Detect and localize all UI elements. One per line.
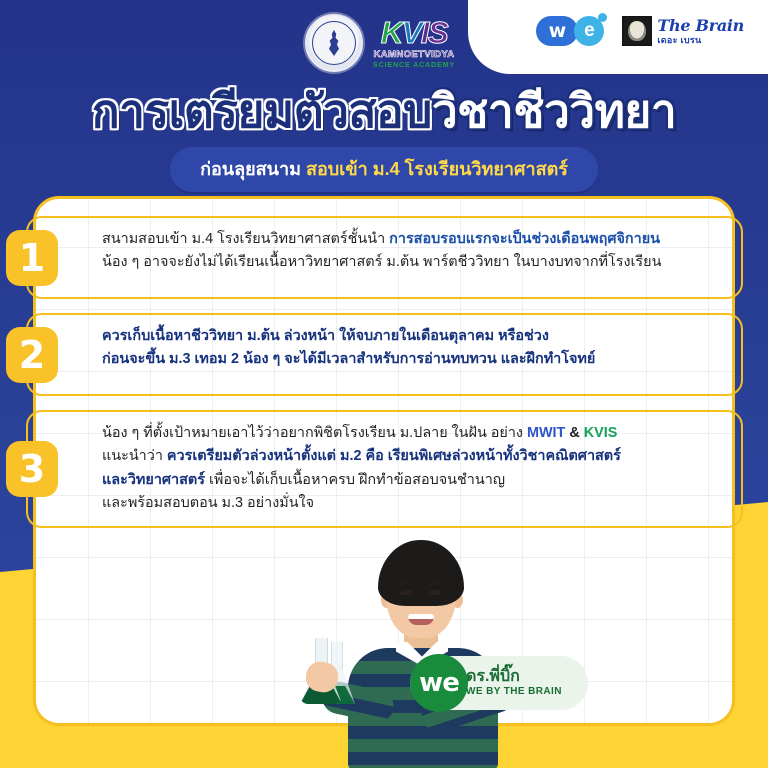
- title-block: การเตรียมตัวสอบวิชาชีววิทยา ก่อนลุยสนาม …: [0, 86, 768, 192]
- we-badge-logo: we: [410, 654, 468, 712]
- we-badge-text: ดร.พี่บิ๊ก WE BY THE BRAIN: [466, 668, 562, 698]
- we-accent-dot: [598, 13, 607, 22]
- header-bar: KVIS KAMNOETVIDYA SCIENCE ACADEMY w e Th…: [0, 0, 768, 78]
- tip-text-2: ควรเก็บเนื้อหาชีววิทยา ม.ต้น ล่วงหน้า ให…: [102, 325, 725, 372]
- presenter-name: ดร.พี่บิ๊ก: [466, 668, 562, 686]
- subtitle-pill: ก่อนลุยสนาม สอบเข้า ม.4 โรงเรียนวิทยาศาส…: [170, 147, 598, 192]
- text-segment: และวิทยาศาสตร์: [102, 472, 205, 488]
- tip-text-3: น้อง ๆ ที่ตั้งเป้าหมายเอาไว้ว่าอยากพิชิต…: [102, 422, 725, 515]
- kvis-logo: KVIS KAMNOETVIDYA SCIENCE ACADEMY: [373, 17, 455, 68]
- kvis-subtitle-line1: KAMNOETVIDYA: [374, 50, 455, 60]
- kvis-letter-v: V: [402, 15, 421, 50]
- tip-line: น้อง ๆ อาจจะยังไม่ได้เรียนเนื้อหาวิทยาศา…: [102, 251, 725, 274]
- tip-number-badge-3: 3: [6, 441, 58, 497]
- tip-number-badge-2: 2: [6, 327, 58, 383]
- we-wordmark: w e: [536, 16, 604, 46]
- tip-card-1: 1สนามสอบเข้า ม.4 โรงเรียนวิทยาศาสตร์ชั้น…: [26, 216, 743, 299]
- text-segment: และพร้อมสอบตอน ม.3 อย่างมั่นใจ: [102, 495, 314, 511]
- presenter-name-badge: we ดร.พี่บิ๊ก WE BY THE BRAIN: [410, 656, 588, 710]
- presenter-eye-left: [400, 590, 412, 595]
- the-brain-logo: The Brain เดอะ เบรน: [622, 16, 744, 46]
- brain-portrait-icon: [622, 16, 652, 46]
- title-part-light: วิชาชีววิทยา: [432, 85, 676, 137]
- partner-logos: w e The Brain เดอะ เบรน: [536, 16, 744, 46]
- text-segment: ควรเตรียมตัวล่วงหน้าตั้งแต่ ม.2 คือ เรีย…: [167, 448, 621, 464]
- text-segment: น้อง ๆ อาจจะยังไม่ได้เรียนเนื้อหาวิทยาศา…: [102, 254, 661, 270]
- tip-number-badge-1: 1: [6, 230, 58, 286]
- presenter-smile: [408, 614, 434, 625]
- brain-subtitle: เดอะ เบรน: [657, 36, 744, 45]
- tip-line: และวิทยาศาสตร์ เพื่อจะได้เก็บเนื้อหาครบ …: [102, 469, 725, 492]
- presenter-eye-right: [429, 590, 441, 595]
- kvis-wordmark: KVIS: [381, 17, 447, 48]
- tip-line: และพร้อมสอบตอน ม.3 อย่างมั่นใจ: [102, 492, 725, 515]
- text-segment: เพื่อจะได้เก็บเนื้อหาครบ ฝึกทำข้อสอบจนชำ…: [205, 472, 505, 488]
- infographic-poster: KVIS KAMNOETVIDYA SCIENCE ACADEMY w e Th…: [0, 0, 768, 768]
- tip-text-1: สนามสอบเข้า ม.4 โรงเรียนวิทยาศาสตร์ชั้นน…: [102, 228, 725, 275]
- subtitle-gold-text: สอบเข้า ม.4 โรงเรียนวิทยาศาสตร์: [306, 159, 568, 179]
- brain-wordmark: The Brain เดอะ เบรน: [657, 18, 744, 45]
- tips-list: 1สนามสอบเข้า ม.4 โรงเรียนวิทยาศาสตร์ชั้น…: [0, 216, 768, 542]
- tip-line: ก่อนจะขึ้น ม.3 เทอม 2 น้อง ๆ จะได้มีเวลา…: [102, 348, 725, 371]
- tip-line: น้อง ๆ ที่ตั้งเป้าหมายเอาไว้ว่าอยากพิชิต…: [102, 422, 725, 445]
- text-segment: KVIS: [584, 425, 618, 441]
- brain-title: The Brain: [657, 18, 744, 34]
- text-segment: ก่อนจะขึ้น ม.3 เทอม 2 น้อง ๆ จะได้มีเวลา…: [102, 351, 595, 367]
- center-logos: KVIS KAMNOETVIDYA SCIENCE ACADEMY: [305, 14, 455, 72]
- presenter-hair: [378, 540, 464, 606]
- crest-shape: [325, 30, 343, 56]
- tip-line: แนะนำว่า ควรเตรียมตัวล่วงหน้าตั้งแต่ ม.2…: [102, 445, 725, 468]
- we-logo: w e: [536, 16, 604, 46]
- tip-line: ควรเก็บเนื้อหาชีววิทยา ม.ต้น ล่วงหน้า ให…: [102, 325, 725, 348]
- text-segment: &: [565, 425, 583, 441]
- title-part-dark: การเตรียมตัวสอบ: [92, 85, 432, 137]
- text-segment: MWIT: [527, 425, 565, 441]
- text-segment: การสอบรอบแรกจะเป็นช่วงเดือนพฤศจิกายน: [389, 231, 660, 247]
- kvis-letter-s: S: [428, 15, 447, 50]
- tip-card-3: 3น้อง ๆ ที่ตั้งเป้าหมายเอาไว้ว่าอยากพิชิ…: [26, 410, 743, 528]
- text-segment: น้อง ๆ ที่ตั้งเป้าหมายเอาไว้ว่าอยากพิชิต…: [102, 425, 527, 441]
- kvis-letter-k: K: [381, 15, 402, 50]
- presenter-brand: WE BY THE BRAIN: [466, 686, 562, 698]
- presenter-illustration: [300, 538, 530, 768]
- text-segment: สนามสอบเข้า ม.4 โรงเรียนวิทยาศาสตร์ชั้นน…: [102, 231, 389, 247]
- text-segment: ควรเก็บเนื้อหาชีววิทยา ม.ต้น ล่วงหน้า ให…: [102, 328, 549, 344]
- page-title: การเตรียมตัวสอบวิชาชีววิทยา: [92, 86, 676, 137]
- tip-card-2: 2ควรเก็บเนื้อหาชีววิทยา ม.ต้น ล่วงหน้า ใ…: [26, 313, 743, 396]
- kvis-subtitle-line2: SCIENCE ACADEMY: [373, 61, 455, 68]
- we-letter-w: w: [536, 16, 578, 46]
- kvis-letter-i: I: [421, 15, 428, 50]
- portrait-face: [628, 21, 646, 41]
- royal-school-seal-icon: [305, 14, 363, 72]
- subtitle-white-text: ก่อนลุยสนาม: [200, 159, 301, 179]
- tip-line: สนามสอบเข้า ม.4 โรงเรียนวิทยาศาสตร์ชั้นน…: [102, 228, 725, 251]
- text-segment: แนะนำว่า: [102, 448, 167, 464]
